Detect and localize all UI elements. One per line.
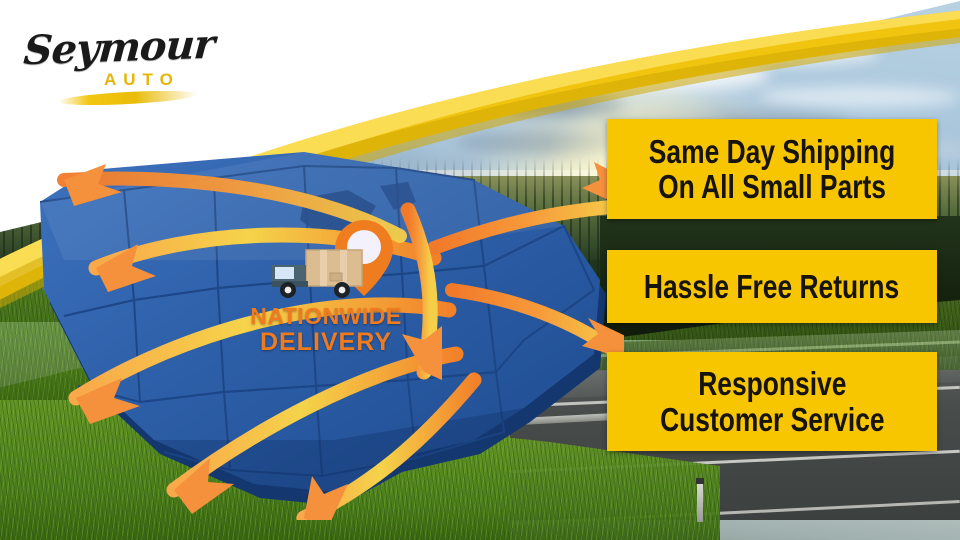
- benefit-3-line-1: Responsive: [660, 366, 885, 401]
- brand-logo[interactable]: Seymour AUTO: [18, 14, 228, 106]
- benefit-banner-hassle-free-returns[interactable]: Hassle Free Returns: [607, 250, 937, 323]
- logo-subtitle: AUTO: [104, 70, 180, 90]
- benefit-1-line-1: Same Day Shipping: [649, 134, 895, 169]
- logo-swoosh-underline: [58, 88, 198, 107]
- benefit-banner-same-day-shipping[interactable]: Same Day Shipping On All Small Parts: [607, 119, 937, 219]
- benefit-3-line-2: Customer Service: [660, 402, 885, 437]
- benefit-2-line-1: Hassle Free Returns: [644, 269, 899, 304]
- nationwide-delivery-heading: NATIONWIDE DELIVERY: [246, 305, 406, 355]
- promo-banner: Seymour AUTO: [0, 0, 960, 540]
- benefit-1-line-2: On All Small Parts: [649, 169, 895, 204]
- nationwide-line-2: DELIVERY: [246, 329, 406, 355]
- roadside-marker-reflector: [696, 478, 704, 484]
- nationwide-line-1: NATIONWIDE: [250, 303, 402, 329]
- benefit-banner-responsive-customer-service[interactable]: Responsive Customer Service: [607, 352, 937, 451]
- delivery-truck-icon: [268, 245, 366, 301]
- roadside-marker-post: [697, 482, 703, 522]
- logo-wordmark: Seymour: [22, 25, 215, 72]
